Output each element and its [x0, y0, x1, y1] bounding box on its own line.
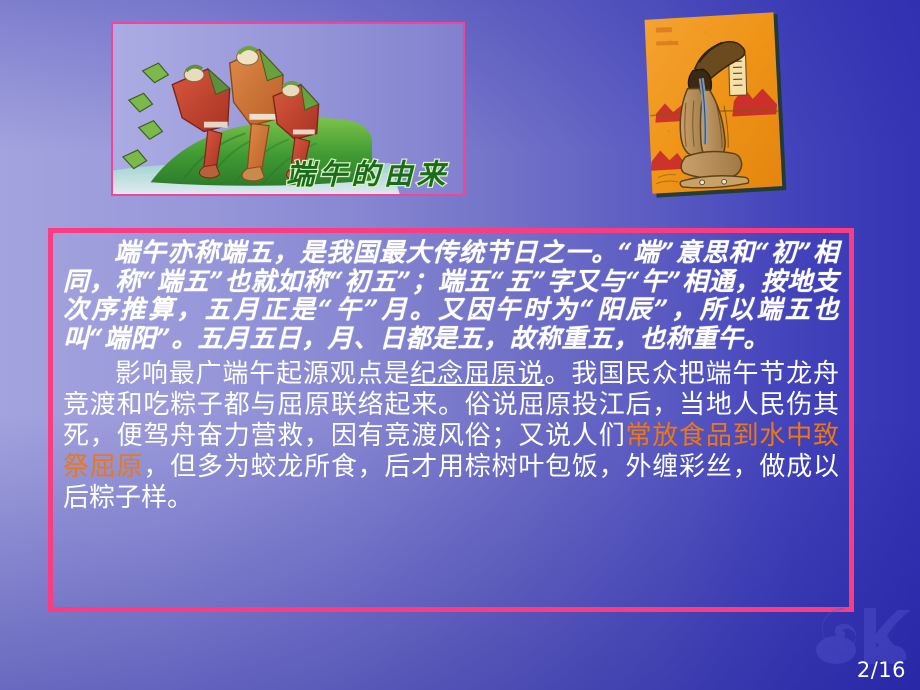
content-textbox: 端午亦称端五，是我国最大传统节日之一。“端”意思和“初”相同，称“端五”也就如称…	[48, 228, 854, 612]
paragraph-origin-of-duanwu: 端午亦称端五，是我国最大传统节日之一。“端”意思和“初”相同，称“端五”也就如称…	[63, 237, 839, 353]
picture-quyuan-painting	[635, 8, 790, 204]
paragraph-quyuan-legend: 影响最广端午起源观点是纪念屈原说。我国民众把端午节龙舟竞渡和吃粽子都与屈原联络起…	[63, 353, 839, 514]
zongzi-illustration-svg: 端午的由来	[113, 24, 463, 194]
picture-left-caption: 端午的由来	[286, 157, 449, 191]
picture-dragon-boat-zongzi: 端午的由来	[111, 22, 465, 196]
quyuan-illustration-svg	[635, 8, 790, 204]
paragraph2-segment-1: 影响最广端午起源观点是	[115, 359, 410, 389]
paragraph2-underlined-phrase: 纪念屈原说	[410, 359, 544, 389]
slide-canvas: 端午的由来	[0, 0, 920, 690]
paragraph2-segment-5: ，但多为蛟龙所食，后才用棕树叶包饭，外缠彩丝，做成以后粽子样。	[63, 452, 839, 513]
page-number: 2/16	[857, 658, 906, 682]
